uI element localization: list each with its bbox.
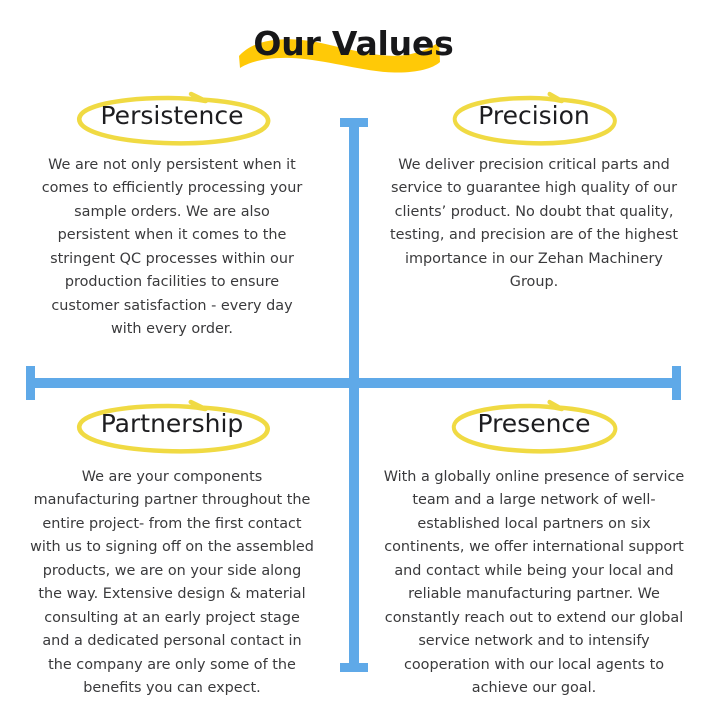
divider-cap-bottom — [340, 663, 368, 672]
page-title: Our Values — [0, 12, 707, 74]
divider-vertical — [349, 118, 359, 672]
quadrant-presence: Presence With a globally online presence… — [375, 396, 693, 692]
quadrant-heading-precision: Precision — [375, 88, 693, 144]
quadrant-body-persistence: We are not only persistent when it comes… — [39, 154, 305, 342]
page-title-inner: Our Values — [239, 24, 467, 63]
divider-cap-right — [672, 366, 681, 400]
heading-inner: Persistence — [79, 99, 266, 134]
quadrant-heading-presence: Presence — [375, 396, 693, 452]
quadrant-partnership: Partnership We are your components manuf… — [14, 396, 330, 692]
values-infographic: Our Values Persistence We are not only p… — [0, 0, 707, 706]
heading-text: Persistence — [101, 101, 244, 130]
divider-cap-top — [340, 118, 368, 127]
divider-horizontal — [26, 378, 681, 388]
quadrant-persistence: Persistence We are not only persistent w… — [14, 88, 330, 368]
heading-text: Presence — [477, 409, 590, 438]
quadrant-heading-persistence: Persistence — [14, 88, 330, 144]
heading-inner: Presence — [455, 407, 612, 442]
quadrant-body-presence: With a globally online presence of servi… — [383, 466, 685, 701]
divider-cap-left — [26, 366, 35, 400]
quadrant-body-precision: We deliver precision critical parts and … — [389, 154, 679, 295]
page-title-text: Our Values — [253, 24, 453, 63]
heading-text: Partnership — [101, 409, 244, 438]
heading-inner: Partnership — [79, 407, 266, 442]
quadrant-heading-partnership: Partnership — [14, 396, 330, 452]
heading-inner: Precision — [456, 99, 612, 134]
heading-text: Precision — [478, 101, 590, 130]
quadrant-body-partnership: We are your components manufacturing par… — [30, 466, 314, 701]
quadrant-precision: Precision We deliver precision critical … — [375, 88, 693, 368]
